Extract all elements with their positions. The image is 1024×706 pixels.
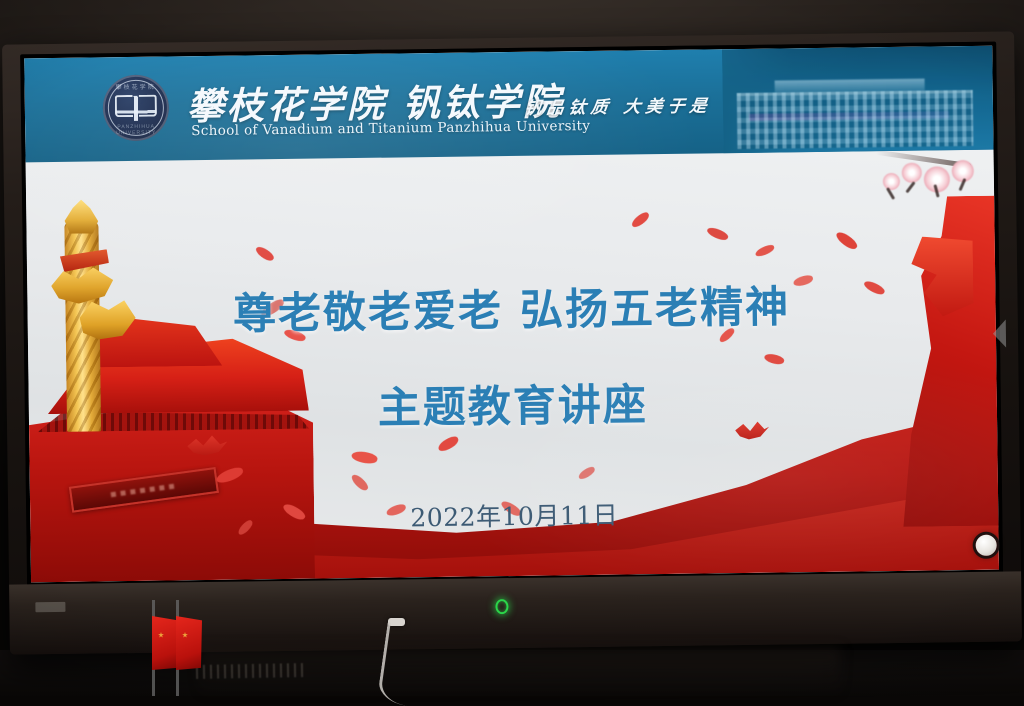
petal	[350, 472, 370, 493]
petal	[754, 243, 776, 258]
display-screen[interactable]: 攀枝花学院 PANZHIHUA UNIVERSITY 攀枝花学院 钒钛学院 Sc…	[24, 46, 999, 583]
petal	[763, 352, 785, 367]
school-motto-calligraphy: 钒品钛质 大美于是	[523, 91, 713, 118]
flag-cloth	[152, 616, 178, 670]
flat-panel-display[interactable]: 攀枝花学院 PANZHIHUA UNIVERSITY 攀枝花学院 钒钛学院 Sc…	[2, 31, 1022, 654]
power-led-indicator[interactable]	[495, 599, 508, 614]
campus-building-photo	[722, 46, 993, 154]
bezel-port-label	[35, 602, 65, 612]
emblem-book-center	[116, 96, 156, 122]
chevron-right-icon[interactable]	[993, 320, 1006, 348]
blossom-flower	[902, 163, 922, 183]
emblem-bottom-text: PANZHIHUA UNIVERSITY	[103, 123, 169, 136]
emblem-top-text: 攀枝花学院	[103, 81, 169, 91]
petal	[834, 229, 859, 252]
presentation-slide: 攀枝花学院 PANZHIHUA UNIVERSITY 攀枝花学院 钒钛学院 Sc…	[24, 46, 999, 583]
camera-sensor-icon[interactable]	[976, 535, 997, 556]
petal	[351, 449, 379, 466]
building-facade	[737, 90, 974, 149]
blossom-flower	[883, 173, 900, 190]
petal	[436, 434, 460, 453]
petal	[630, 210, 652, 229]
cable-wire	[377, 622, 418, 705]
flag-cloth	[176, 616, 202, 670]
slide-title-line-2: 主题教育讲座	[28, 366, 997, 441]
university-emblem-icon: 攀枝花学院 PANZHIHUA UNIVERSITY	[102, 74, 169, 141]
blossom-stamen	[905, 181, 915, 193]
chinese-flags-decoration	[150, 588, 216, 696]
slide-title-line-1: 尊老敬老爱老 弘扬五老精神	[27, 270, 996, 345]
petal	[706, 225, 730, 243]
slide-header-band: 攀枝花学院 PANZHIHUA UNIVERSITY 攀枝花学院 钒钛学院 Sc…	[24, 46, 993, 163]
petal	[577, 465, 597, 481]
power-cable	[380, 618, 440, 696]
